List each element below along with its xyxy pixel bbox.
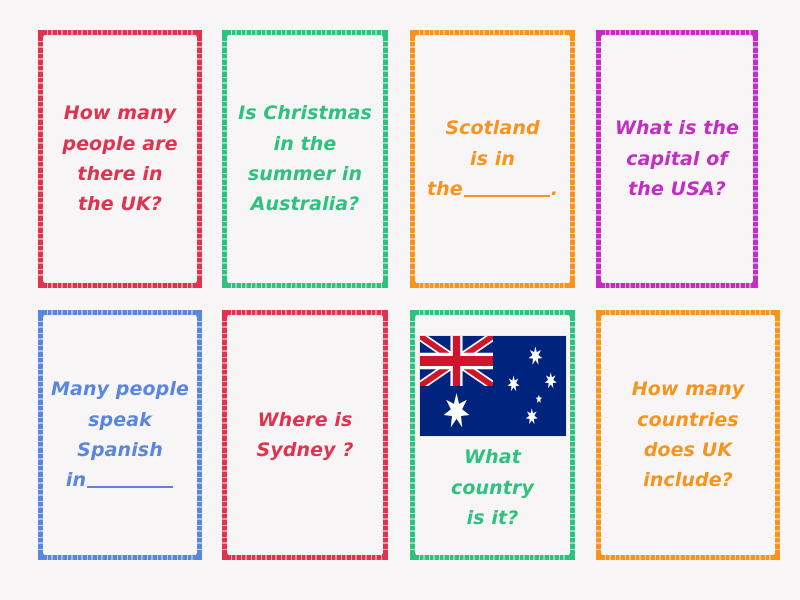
card-corner-top-right bbox=[774, 310, 780, 317]
card-corner-bottom-right bbox=[382, 553, 388, 560]
answer-blank[interactable] bbox=[87, 486, 173, 488]
card-border-left bbox=[596, 310, 601, 560]
card-corner-top-right bbox=[196, 30, 202, 37]
card-corner-bottom-right bbox=[196, 553, 202, 560]
card-border-left bbox=[596, 30, 601, 288]
card-border-top bbox=[38, 310, 202, 315]
card-where-is-sydney[interactable]: Where is Sydney ? bbox=[222, 310, 388, 560]
card-border-right bbox=[383, 310, 388, 560]
card-question-text: What country is it? bbox=[418, 442, 567, 533]
card-border-left bbox=[222, 30, 227, 288]
card-border-top bbox=[410, 30, 575, 35]
card-border-left bbox=[38, 30, 43, 288]
card-corner-bottom-right bbox=[774, 553, 780, 560]
card-border-right bbox=[775, 310, 780, 560]
card-border-top bbox=[410, 310, 575, 315]
card-question-text: Many people speak Spanish in bbox=[46, 374, 194, 496]
card-what-country-is-it[interactable]: What country is it? bbox=[410, 310, 575, 560]
card-corner-top-right bbox=[752, 30, 758, 37]
card-border-top bbox=[596, 310, 780, 315]
card-border-bottom bbox=[38, 283, 202, 288]
card-border-bottom bbox=[410, 283, 575, 288]
card-image bbox=[420, 336, 566, 436]
card-border-bottom bbox=[222, 555, 388, 560]
card-border-top bbox=[222, 30, 388, 35]
card-corner-bottom-left bbox=[222, 281, 228, 288]
card-corner-top-left bbox=[596, 310, 602, 317]
card-text-before-blank: Scotland is in the bbox=[427, 117, 540, 200]
card-corner-bottom-right bbox=[569, 553, 575, 560]
card-border-right bbox=[197, 310, 202, 560]
card-corner-top-left bbox=[410, 30, 416, 37]
card-question-text: Scotland is in the. bbox=[418, 113, 567, 204]
card-border-bottom bbox=[596, 555, 780, 560]
card-border-bottom bbox=[222, 283, 388, 288]
card-how-many-people-uk[interactable]: How many people are there in the UK? bbox=[38, 30, 202, 288]
card-border-left bbox=[410, 30, 415, 288]
card-question-text: What is the capital of the USA? bbox=[604, 113, 750, 204]
flashcard-board: How many people are there in the UK? Is … bbox=[0, 0, 800, 600]
card-corner-bottom-left bbox=[38, 281, 44, 288]
card-how-many-countries-uk[interactable]: How many countries does UK include? bbox=[596, 310, 780, 560]
card-corner-bottom-left bbox=[38, 553, 44, 560]
card-border-right bbox=[383, 30, 388, 288]
card-corner-bottom-left bbox=[222, 553, 228, 560]
card-corner-top-left bbox=[222, 310, 228, 317]
card-text-before-blank: Many people speak Spanish in bbox=[51, 378, 189, 491]
card-corner-top-right bbox=[382, 310, 388, 317]
card-border-top bbox=[596, 30, 758, 35]
card-capital-of-usa[interactable]: What is the capital of the USA? bbox=[596, 30, 758, 288]
card-corner-bottom-right bbox=[196, 281, 202, 288]
card-border-right bbox=[570, 30, 575, 288]
card-corner-bottom-left bbox=[596, 553, 602, 560]
card-border-bottom bbox=[596, 283, 758, 288]
card-border-right bbox=[570, 310, 575, 560]
card-text-after-blank: . bbox=[551, 178, 558, 200]
card-corner-top-right bbox=[569, 310, 575, 317]
card-border-left bbox=[410, 310, 415, 560]
card-corner-bottom-right bbox=[569, 281, 575, 288]
card-corner-top-left bbox=[38, 30, 44, 37]
card-corner-top-right bbox=[569, 30, 575, 37]
card-corner-top-right bbox=[196, 310, 202, 317]
card-question-text: Where is Sydney ? bbox=[230, 405, 380, 466]
card-corner-top-left bbox=[596, 30, 602, 37]
card-question-text: How many people are there in the UK? bbox=[46, 98, 194, 220]
card-corner-bottom-right bbox=[752, 281, 758, 288]
card-corner-bottom-left bbox=[410, 281, 416, 288]
card-corner-bottom-right bbox=[382, 281, 388, 288]
card-border-top bbox=[222, 310, 388, 315]
card-question-text: Is Christmas in the summer in Australia? bbox=[230, 98, 380, 220]
card-corner-top-left bbox=[38, 310, 44, 317]
card-corner-bottom-left bbox=[410, 553, 416, 560]
card-border-left bbox=[222, 310, 227, 560]
australia-flag-image bbox=[420, 336, 566, 436]
card-border-bottom bbox=[410, 555, 575, 560]
card-christmas-summer-australia[interactable]: Is Christmas in the summer in Australia? bbox=[222, 30, 388, 288]
card-border-right bbox=[753, 30, 758, 288]
card-corner-top-right bbox=[382, 30, 388, 37]
card-corner-top-left bbox=[222, 30, 228, 37]
card-border-right bbox=[197, 30, 202, 288]
answer-blank[interactable] bbox=[464, 195, 550, 197]
card-border-top bbox=[38, 30, 202, 35]
card-border-bottom bbox=[38, 555, 202, 560]
card-many-people-speak-spanish-in[interactable]: Many people speak Spanish in bbox=[38, 310, 202, 560]
card-scotland-is-in-the[interactable]: Scotland is in the. bbox=[410, 30, 575, 288]
card-question-text: How many countries does UK include? bbox=[604, 374, 772, 496]
card-corner-bottom-left bbox=[596, 281, 602, 288]
card-corner-top-left bbox=[410, 310, 416, 317]
card-border-left bbox=[38, 310, 43, 560]
